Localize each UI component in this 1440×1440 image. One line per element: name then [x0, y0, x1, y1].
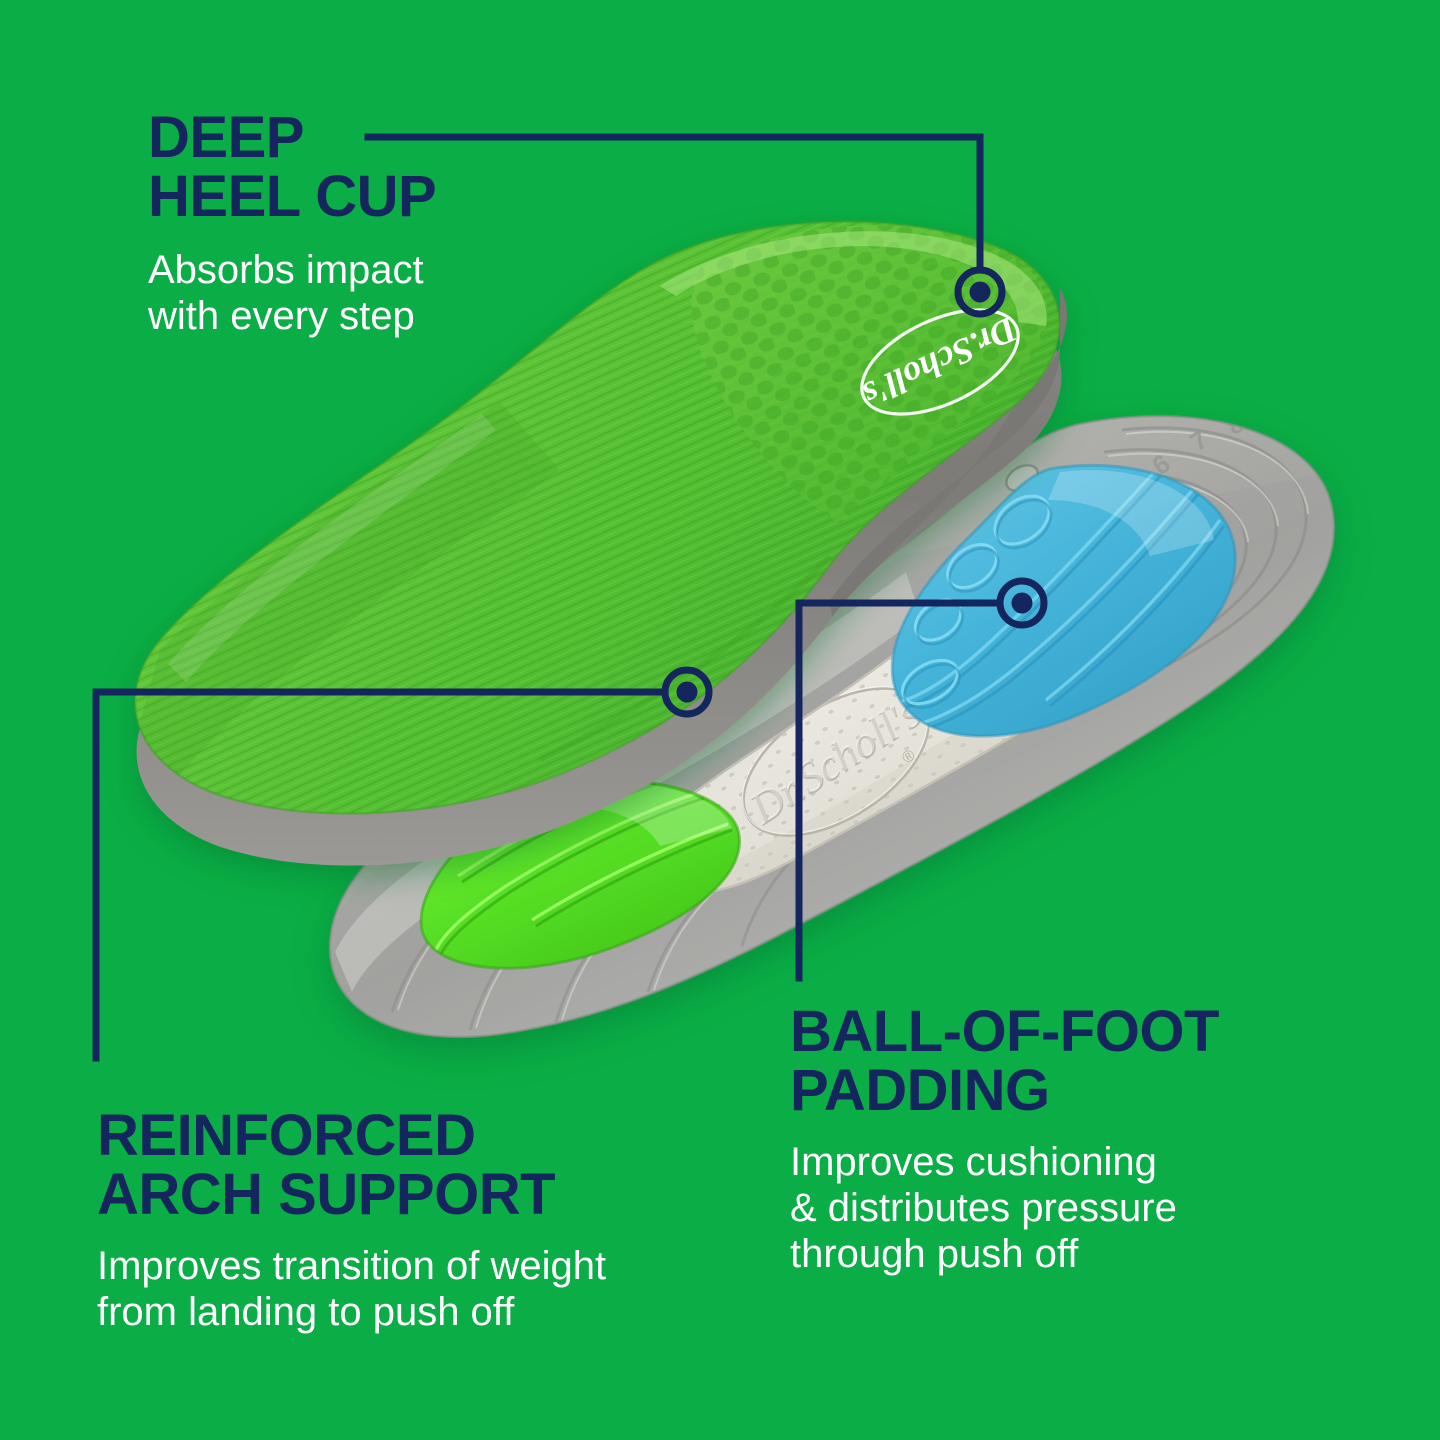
callout-ball-of-foot-padding: BALL-OF-FOOT PADDING Improves cushioning…	[790, 1002, 1219, 1277]
callout-desc-deep-heel-cup: Absorbs impact with every step	[148, 248, 436, 339]
svg-text:9: 9	[1255, 396, 1284, 429]
callout-desc-ball-of-foot-padding: Improves cushioning & distributes pressu…	[790, 1140, 1219, 1277]
callout-desc-reinforced-arch-support: Improves transition of weight from landi…	[97, 1244, 606, 1335]
callout-title-reinforced-arch-support: REINFORCED ARCH SUPPORT	[97, 1106, 606, 1224]
callout-title-ball-of-foot-padding: BALL-OF-FOOT PADDING	[790, 1002, 1219, 1120]
infographic-canvas: 6 7 8 9	[0, 0, 1440, 1440]
callout-deep-heel-cup: DEEP HEEL CUP Absorbs impact with every …	[148, 108, 436, 340]
callout-reinforced-arch-support: REINFORCED ARCH SUPPORT Improves transit…	[97, 1106, 606, 1336]
callout-title-deep-heel-cup: DEEP HEEL CUP	[148, 108, 436, 226]
